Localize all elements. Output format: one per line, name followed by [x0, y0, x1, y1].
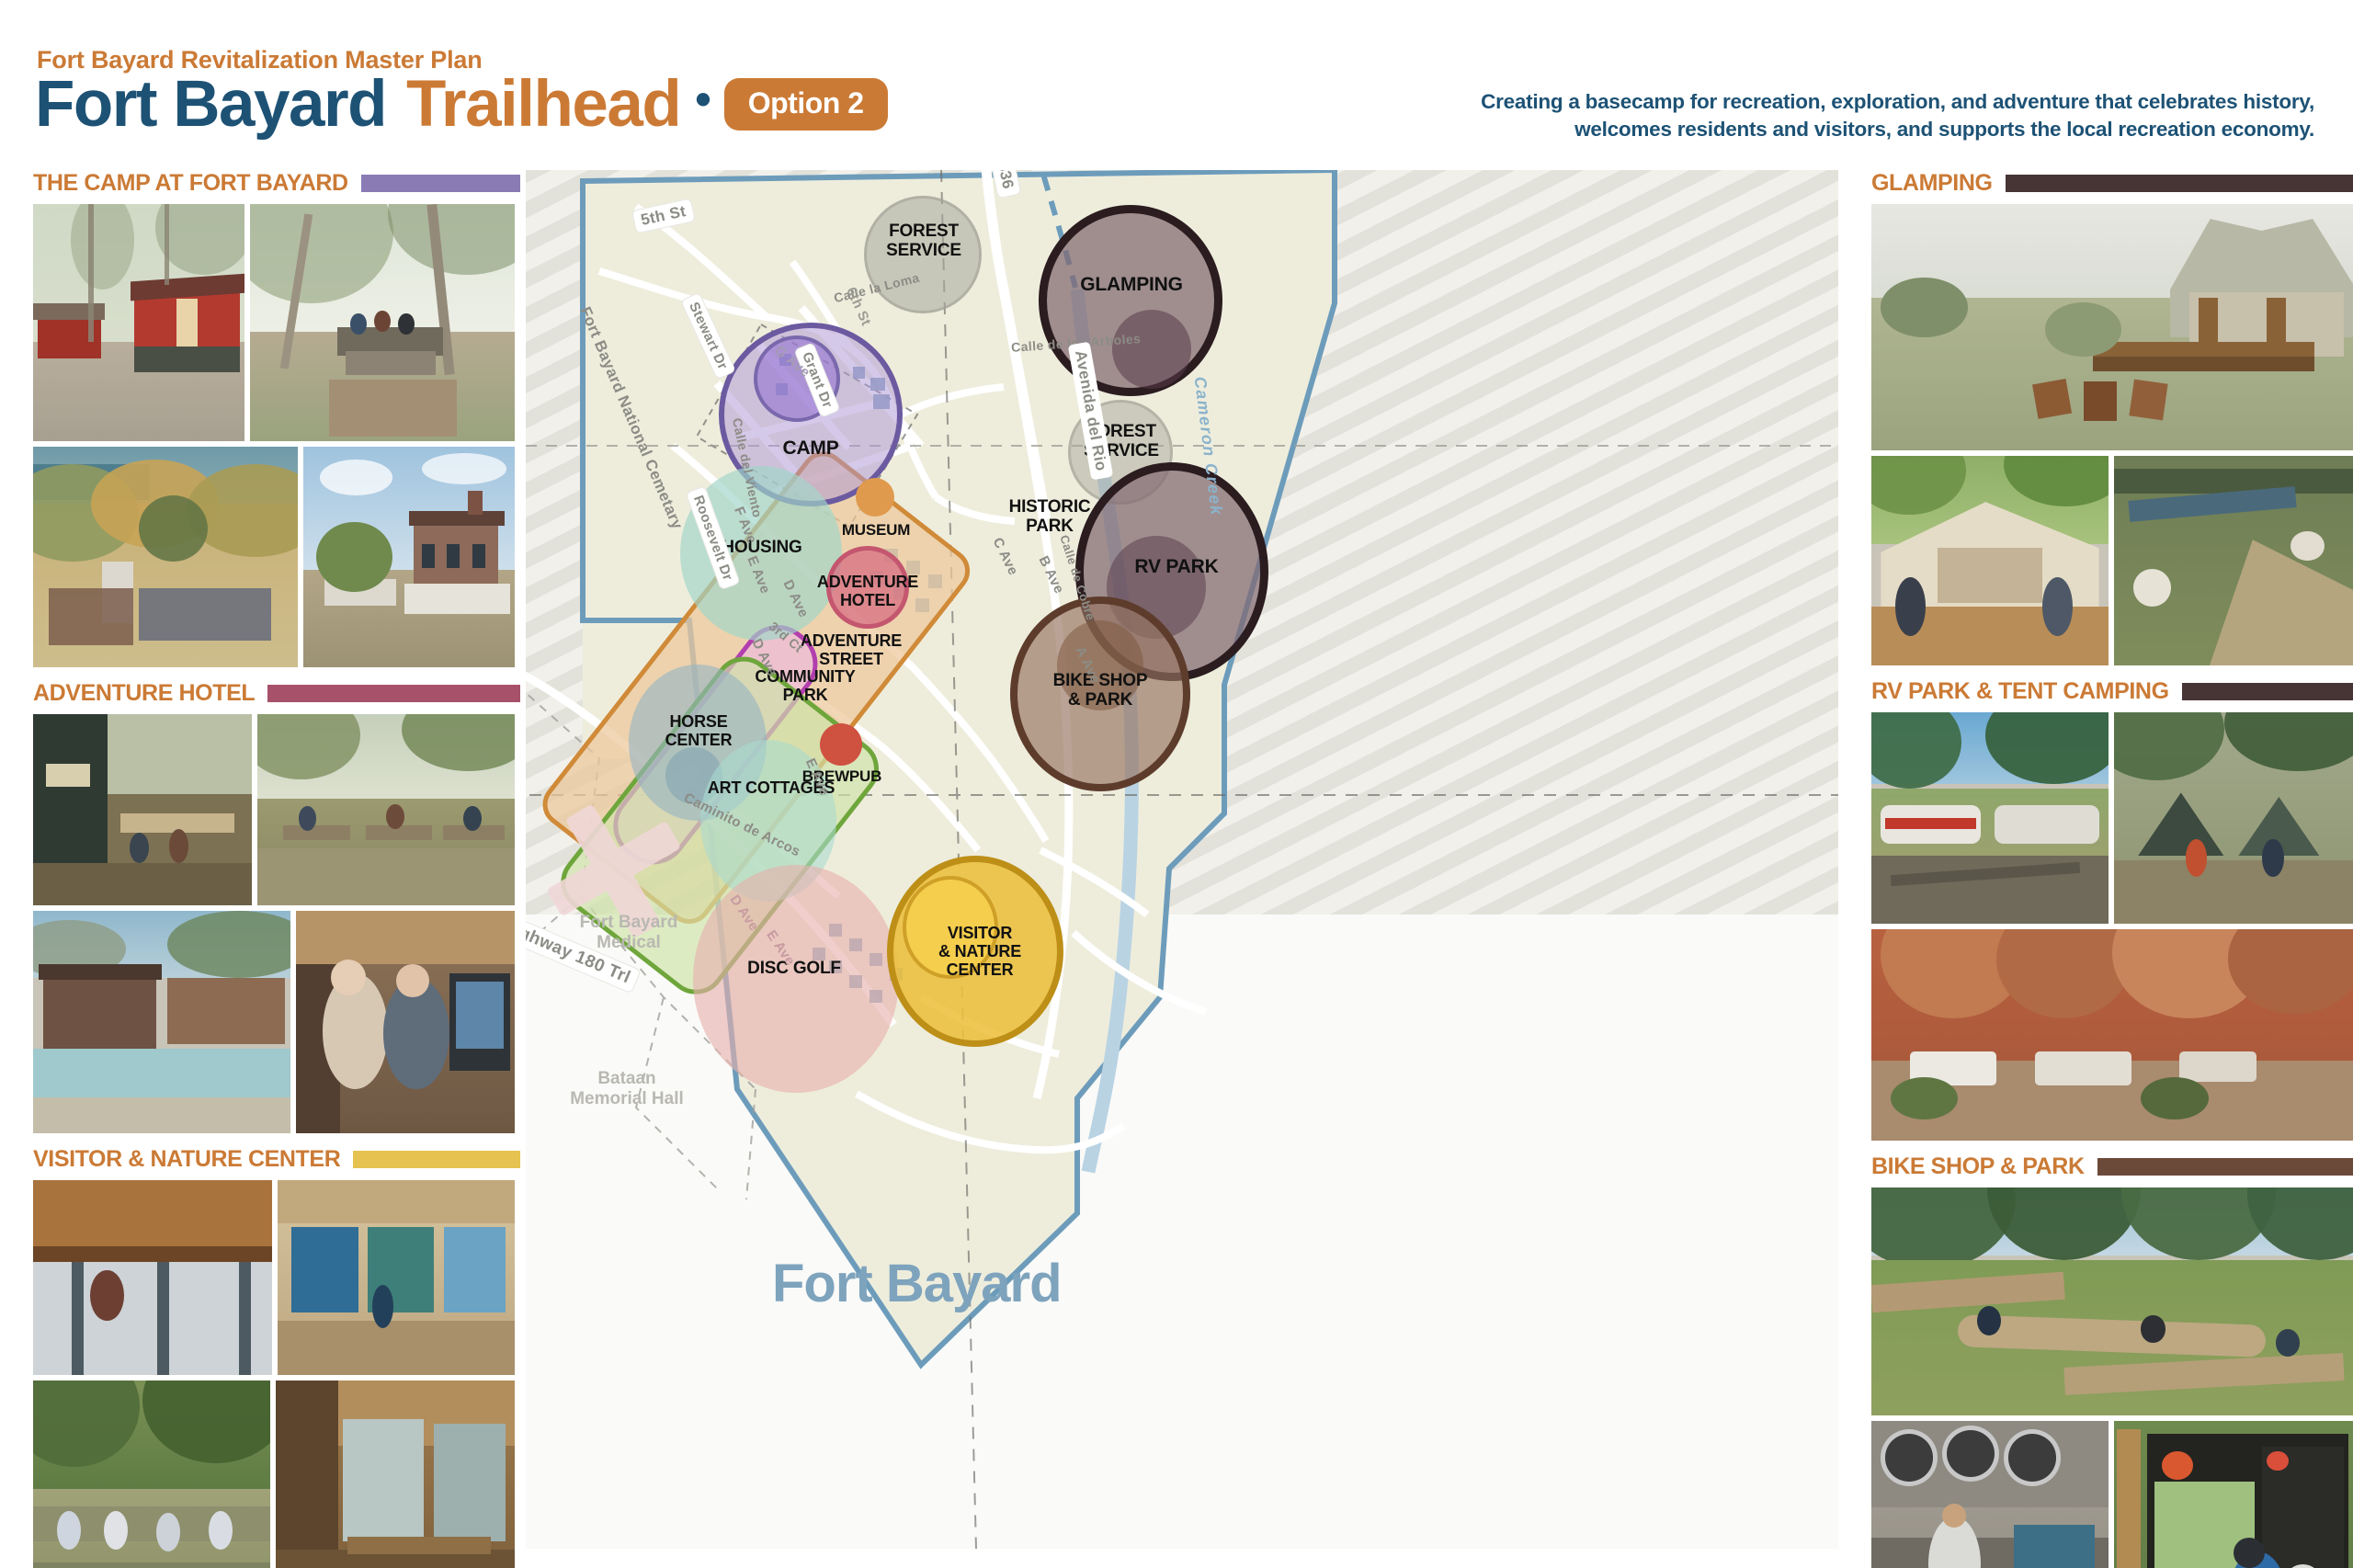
right-photo-column: GLAMPING: [1871, 170, 2353, 1568]
zone-bike-shop-core: [1057, 620, 1143, 710]
section-title: RV PARK & TENT CAMPING: [1871, 678, 2169, 705]
zone-brewpub[interactable]: [820, 723, 862, 766]
ghost-label-fort-bayard-medical: Fort BayardMedical: [546, 913, 711, 953]
section-header-glamping: GLAMPING: [1871, 170, 2353, 197]
zone-disc-golf[interactable]: [693, 865, 899, 1093]
tagline-line-2: welcomes residents and visitors, and sup…: [1574, 118, 2314, 141]
zone-museum[interactable]: [856, 478, 894, 517]
title-separator-dot: •: [695, 76, 711, 122]
photo-grid-visitor-center: [33, 1180, 520, 1568]
photo-outdoor-patio-picnic-tables: [257, 714, 515, 905]
photo-wood-clad-interpretive-building-interior: [276, 1381, 515, 1568]
section-color-bar: [353, 1151, 520, 1168]
section-color-bar: [2182, 683, 2353, 700]
zone-forest-service-1[interactable]: [864, 196, 982, 313]
photo-vintage-trailers-in-campground: [1871, 712, 2109, 924]
photo-bike-shop-interior-with-mechanic: [1871, 1421, 2109, 1568]
photo-aerial-view-glamping-tents-by-river: [2114, 456, 2353, 665]
section-title: GLAMPING: [1871, 170, 1993, 197]
photo-picnic-table-gathering-under-oak: [250, 204, 515, 441]
section-title: THE CAMP AT FORT BAYARD: [33, 170, 348, 197]
photo-lodge-exterior-with-pool: [33, 911, 290, 1133]
poster-header: Fort Bayard Revitalization Master Plan F…: [0, 0, 2353, 175]
photo-canvas-wall-tent-interior-with-couple: [1871, 456, 2109, 665]
photo-cyclists-reading-terrain-park-trail-map: [2114, 1421, 2353, 1568]
site-plan-map[interactable]: FORESTSERVICE GLAMPING CAMP FORESTSERVIC…: [526, 170, 1838, 1549]
zone-adventure-hotel[interactable]: [826, 546, 909, 629]
photo-timber-pavilion-with-hanging-gear: [33, 1180, 272, 1375]
photo-historic-brick-officers-quarters: [303, 447, 515, 667]
section-header-visitor-center: VISITOR & NATURE CENTER: [33, 1146, 520, 1173]
section-color-bar: [361, 175, 520, 192]
map-place-label-fort-bayard: Fort Bayard: [772, 1253, 1062, 1314]
section-header-rv-park: RV PARK & TENT CAMPING: [1871, 678, 2353, 705]
ghost-label-bataan-memorial-hall: BataanMemorial Hall: [535, 1069, 719, 1109]
section-color-bar: [2097, 1158, 2353, 1176]
photo-grid-glamping: [1871, 204, 2353, 665]
section-header-adventure-hotel: ADVENTURE HOTEL: [33, 680, 520, 707]
photo-rv-park-among-red-rock-formations: [1871, 929, 2353, 1141]
section-title: ADVENTURE HOTEL: [33, 680, 255, 707]
photo-pump-track-and-bike-skills-park: [1871, 1187, 2353, 1415]
left-photo-column: THE CAMP AT FORT BAYARD: [33, 170, 520, 1568]
zone-visitor-center-core: [903, 876, 998, 979]
photo-interior-exhibit-hall-with-murals: [278, 1180, 515, 1375]
photo-outdoor-wedding-ceremony-autumn-hillside: [33, 447, 298, 667]
tagline: Creating a basecamp for recreation, expl…: [1303, 88, 2314, 143]
title-secondary: Trailhead: [406, 72, 680, 137]
section-header-bike-shop: BIKE SHOP & PARK: [1871, 1153, 2353, 1180]
photo-safari-tent-on-deck-overlooking-valley: [1871, 204, 2353, 450]
section-header-camp: THE CAMP AT FORT BAYARD: [33, 170, 520, 197]
section-title: VISITOR & NATURE CENTER: [33, 1146, 340, 1173]
photo-tent-campsite-with-campers: [2114, 712, 2353, 924]
photo-grid-bike-shop: [1871, 1187, 2353, 1568]
section-color-bar: [267, 685, 520, 702]
photo-red-cabin-under-oaks: [33, 204, 244, 441]
zone-glamping-core: [1112, 310, 1191, 389]
photo-grid-adventure-hotel: [33, 714, 520, 1133]
photo-grid-camp: [33, 204, 520, 667]
title-primary: Fort Bayard: [35, 72, 386, 137]
photo-grid-rv-park: [1871, 712, 2353, 1141]
photo-guests-at-reception-kiosk: [296, 911, 515, 1133]
poster-root: Fort Bayard Revitalization Master Plan F…: [0, 0, 2353, 1568]
section-color-bar: [2006, 175, 2353, 192]
photo-outdoor-classroom-under-trees: [33, 1381, 270, 1568]
page-title: Fort Bayard Trailhead • Option 2: [35, 72, 888, 137]
section-title: BIKE SHOP & PARK: [1871, 1153, 2085, 1180]
option-badge: Option 2: [724, 78, 888, 131]
photo-hotel-lobby-lounge-interior: [33, 714, 252, 905]
tagline-line-1: Creating a basecamp for recreation, expl…: [1481, 90, 2314, 113]
